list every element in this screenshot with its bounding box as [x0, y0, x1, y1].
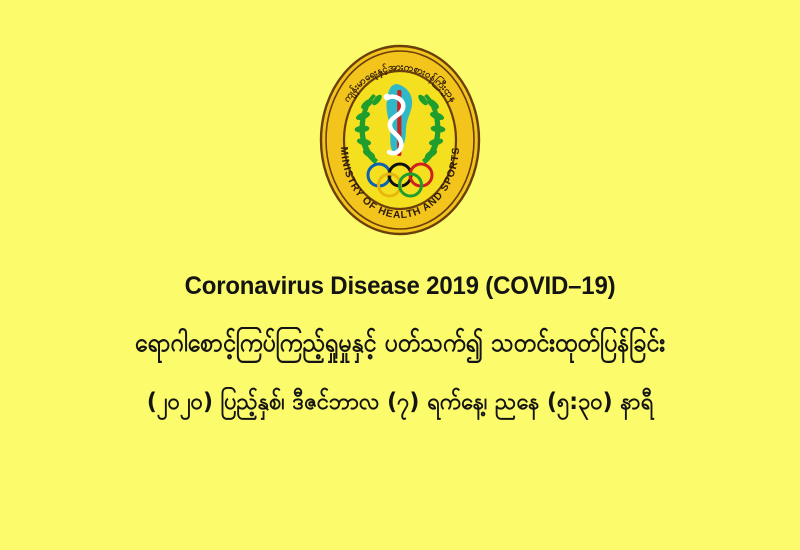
date-time-burmese: (၂၀၂၀) ပြည့်နှစ်၊ ဒီဇင်ဘာလ (၇) ရက်နေ့၊ ည… [33, 387, 766, 417]
announcement-text-block: Coronavirus Disease 2019 (COVID–19) ရောဂ… [0, 272, 800, 417]
serpent-head [384, 94, 391, 101]
press-release-slide: ကျန်းမာရေးနှင့်အားကစားဝန်ကြီးဌာန MINISTR… [0, 0, 800, 550]
seal-graphic: ကျန်းမာရေးနှင့်အားကစားဝန်ကြီးဌာန MINISTR… [317, 42, 483, 238]
headline-burmese: ရောဂါစောင့်ကြပ်ကြည့်ရှုမှုနှင့် ပတ်သက်၍ … [41, 326, 759, 359]
headline-english: Coronavirus Disease 2019 (COVID–19) [29, 272, 770, 302]
ministry-seal-logo: ကျန်းမာရေးနှင့်အားကစားဝန်ကြီးဌာန MINISTR… [317, 42, 483, 238]
